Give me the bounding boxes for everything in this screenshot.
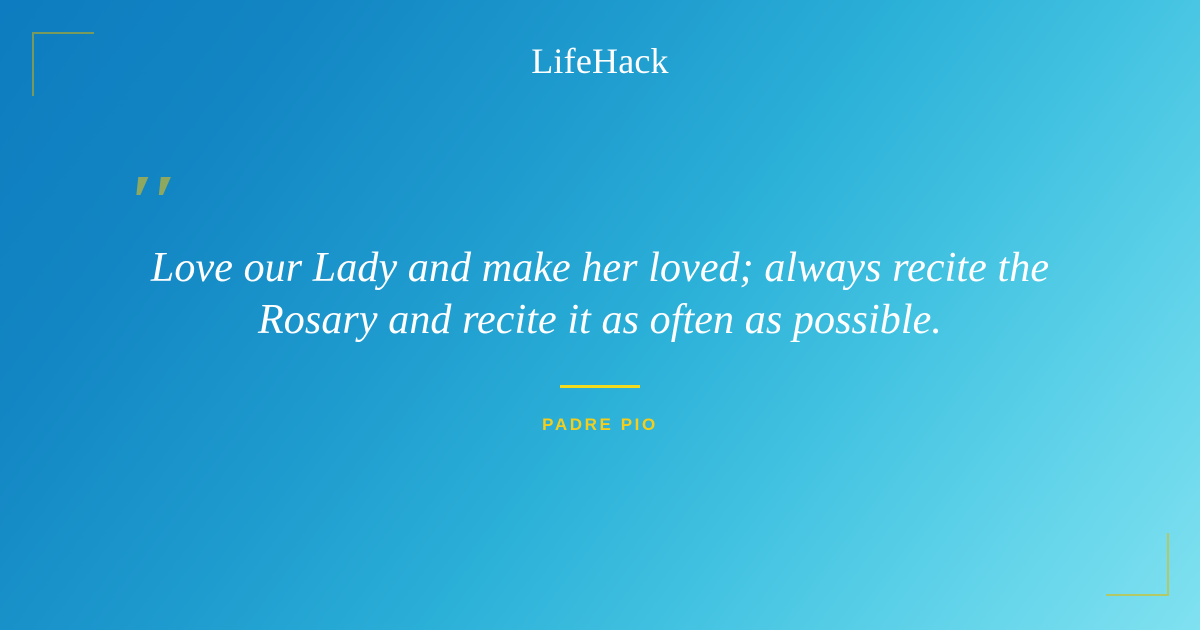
divider-rule xyxy=(560,385,640,388)
brand-logo: LifeHack xyxy=(0,40,1200,82)
corner-bracket-bottom-right-icon xyxy=(1106,533,1169,596)
quote-line-1: Love our Lady and make her loved; always… xyxy=(151,245,1049,291)
quote-text: Love our Lady and make her loved; always… xyxy=(100,242,1100,346)
quote-line-2: Rosary and recite it as often as possibl… xyxy=(258,297,942,343)
quote-card: LifeHack ′′ Love our Lady and make her l… xyxy=(0,0,1200,630)
quote-author: PADRE PIO xyxy=(0,415,1200,435)
quote-mark-icon: ′′ xyxy=(130,164,175,240)
